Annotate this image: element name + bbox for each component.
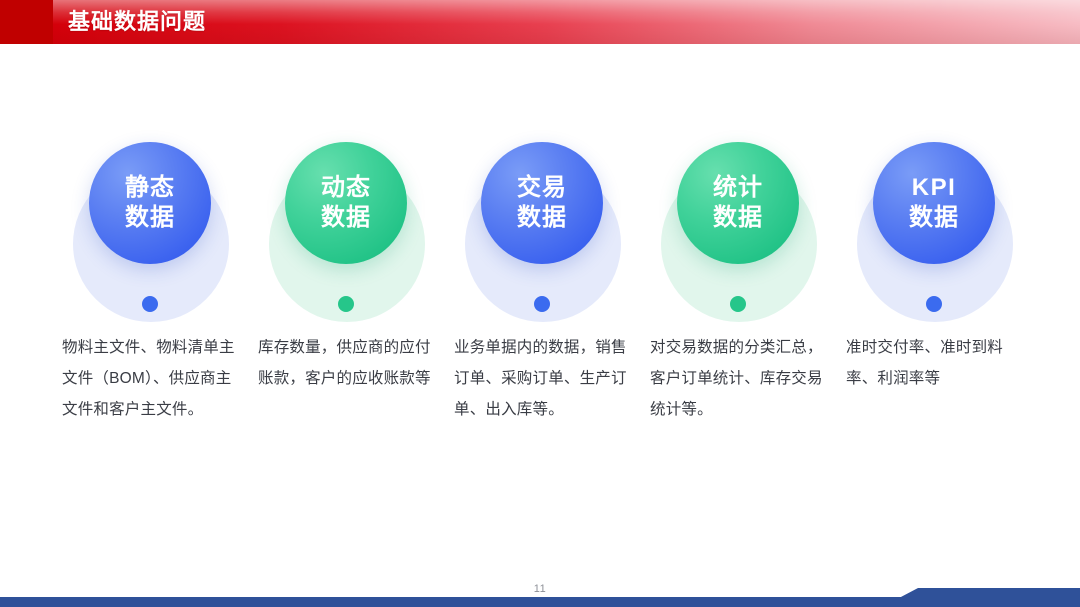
data-category-column: KPI 数据 准时交付率、准时到料率、利润率等 bbox=[836, 44, 1032, 564]
category-bubble[interactable]: 交易 数据 bbox=[444, 130, 640, 320]
bubble-orb[interactable]: KPI 数据 bbox=[873, 142, 995, 264]
title-bar-accent-block bbox=[0, 0, 53, 44]
data-category-column: 交易 数据 业务单据内的数据，销售订单、采购订单、生产订单、出入库等。 bbox=[444, 44, 640, 564]
bubble-label-line1: 交易 bbox=[517, 173, 567, 203]
bubble-marker-dot bbox=[926, 296, 942, 312]
category-description: 对交易数据的分类汇总，客户订单统计、库存交易统计等。 bbox=[650, 332, 830, 425]
bubble-label-line1: 动态 bbox=[321, 173, 371, 203]
category-description: 业务单据内的数据，销售订单、采购订单、生产订单、出入库等。 bbox=[454, 332, 634, 425]
bubble-marker-dot bbox=[142, 296, 158, 312]
category-bubble[interactable]: 统计 数据 bbox=[640, 130, 836, 320]
data-category-column: 静态 数据 物料主文件、物料清单主文件（BOM）、供应商主文件和客户主文件。 bbox=[52, 44, 248, 564]
bubble-label-line2: 数据 bbox=[125, 203, 175, 233]
bubble-orb[interactable]: 交易 数据 bbox=[481, 142, 603, 264]
data-category-column: 动态 数据 库存数量，供应商的应付账款，客户的应收账款等 bbox=[248, 44, 444, 564]
title-bar-gradient bbox=[53, 0, 1080, 44]
slide-root: 基础数据问题 静态 数据 物料主文件、物料清单主文件（BOM）、供应商主文件和客… bbox=[0, 0, 1080, 607]
category-bubble[interactable]: KPI 数据 bbox=[836, 130, 1032, 320]
bubble-label-line1: 统计 bbox=[713, 173, 763, 203]
bubble-marker-dot bbox=[338, 296, 354, 312]
category-bubble[interactable]: 动态 数据 bbox=[248, 130, 444, 320]
bubble-label-line2: 数据 bbox=[321, 203, 371, 233]
category-description: 物料主文件、物料清单主文件（BOM）、供应商主文件和客户主文件。 bbox=[62, 332, 242, 425]
bubble-label-line2: 数据 bbox=[517, 203, 567, 233]
slide-title-bar: 基础数据问题 bbox=[0, 0, 1080, 44]
category-description: 库存数量，供应商的应付账款，客户的应收账款等 bbox=[258, 332, 438, 394]
category-description: 准时交付率、准时到料率、利润率等 bbox=[846, 332, 1026, 394]
page-title: 基础数据问题 bbox=[68, 9, 206, 35]
data-category-column: 统计 数据 对交易数据的分类汇总，客户订单统计、库存交易统计等。 bbox=[640, 44, 836, 564]
bubble-label-line1: KPI bbox=[912, 173, 957, 203]
bubble-orb[interactable]: 动态 数据 bbox=[285, 142, 407, 264]
bubble-label-line2: 数据 bbox=[909, 203, 959, 233]
bubble-label-line2: 数据 bbox=[713, 203, 763, 233]
bubble-marker-dot bbox=[534, 296, 550, 312]
bubble-orb[interactable]: 统计 数据 bbox=[677, 142, 799, 264]
data-category-columns: 静态 数据 物料主文件、物料清单主文件（BOM）、供应商主文件和客户主文件。 动… bbox=[0, 44, 1080, 564]
bubble-label-line1: 静态 bbox=[125, 173, 175, 203]
bubble-marker-dot bbox=[730, 296, 746, 312]
category-bubble[interactable]: 静态 数据 bbox=[52, 130, 248, 320]
bubble-orb[interactable]: 静态 数据 bbox=[89, 142, 211, 264]
